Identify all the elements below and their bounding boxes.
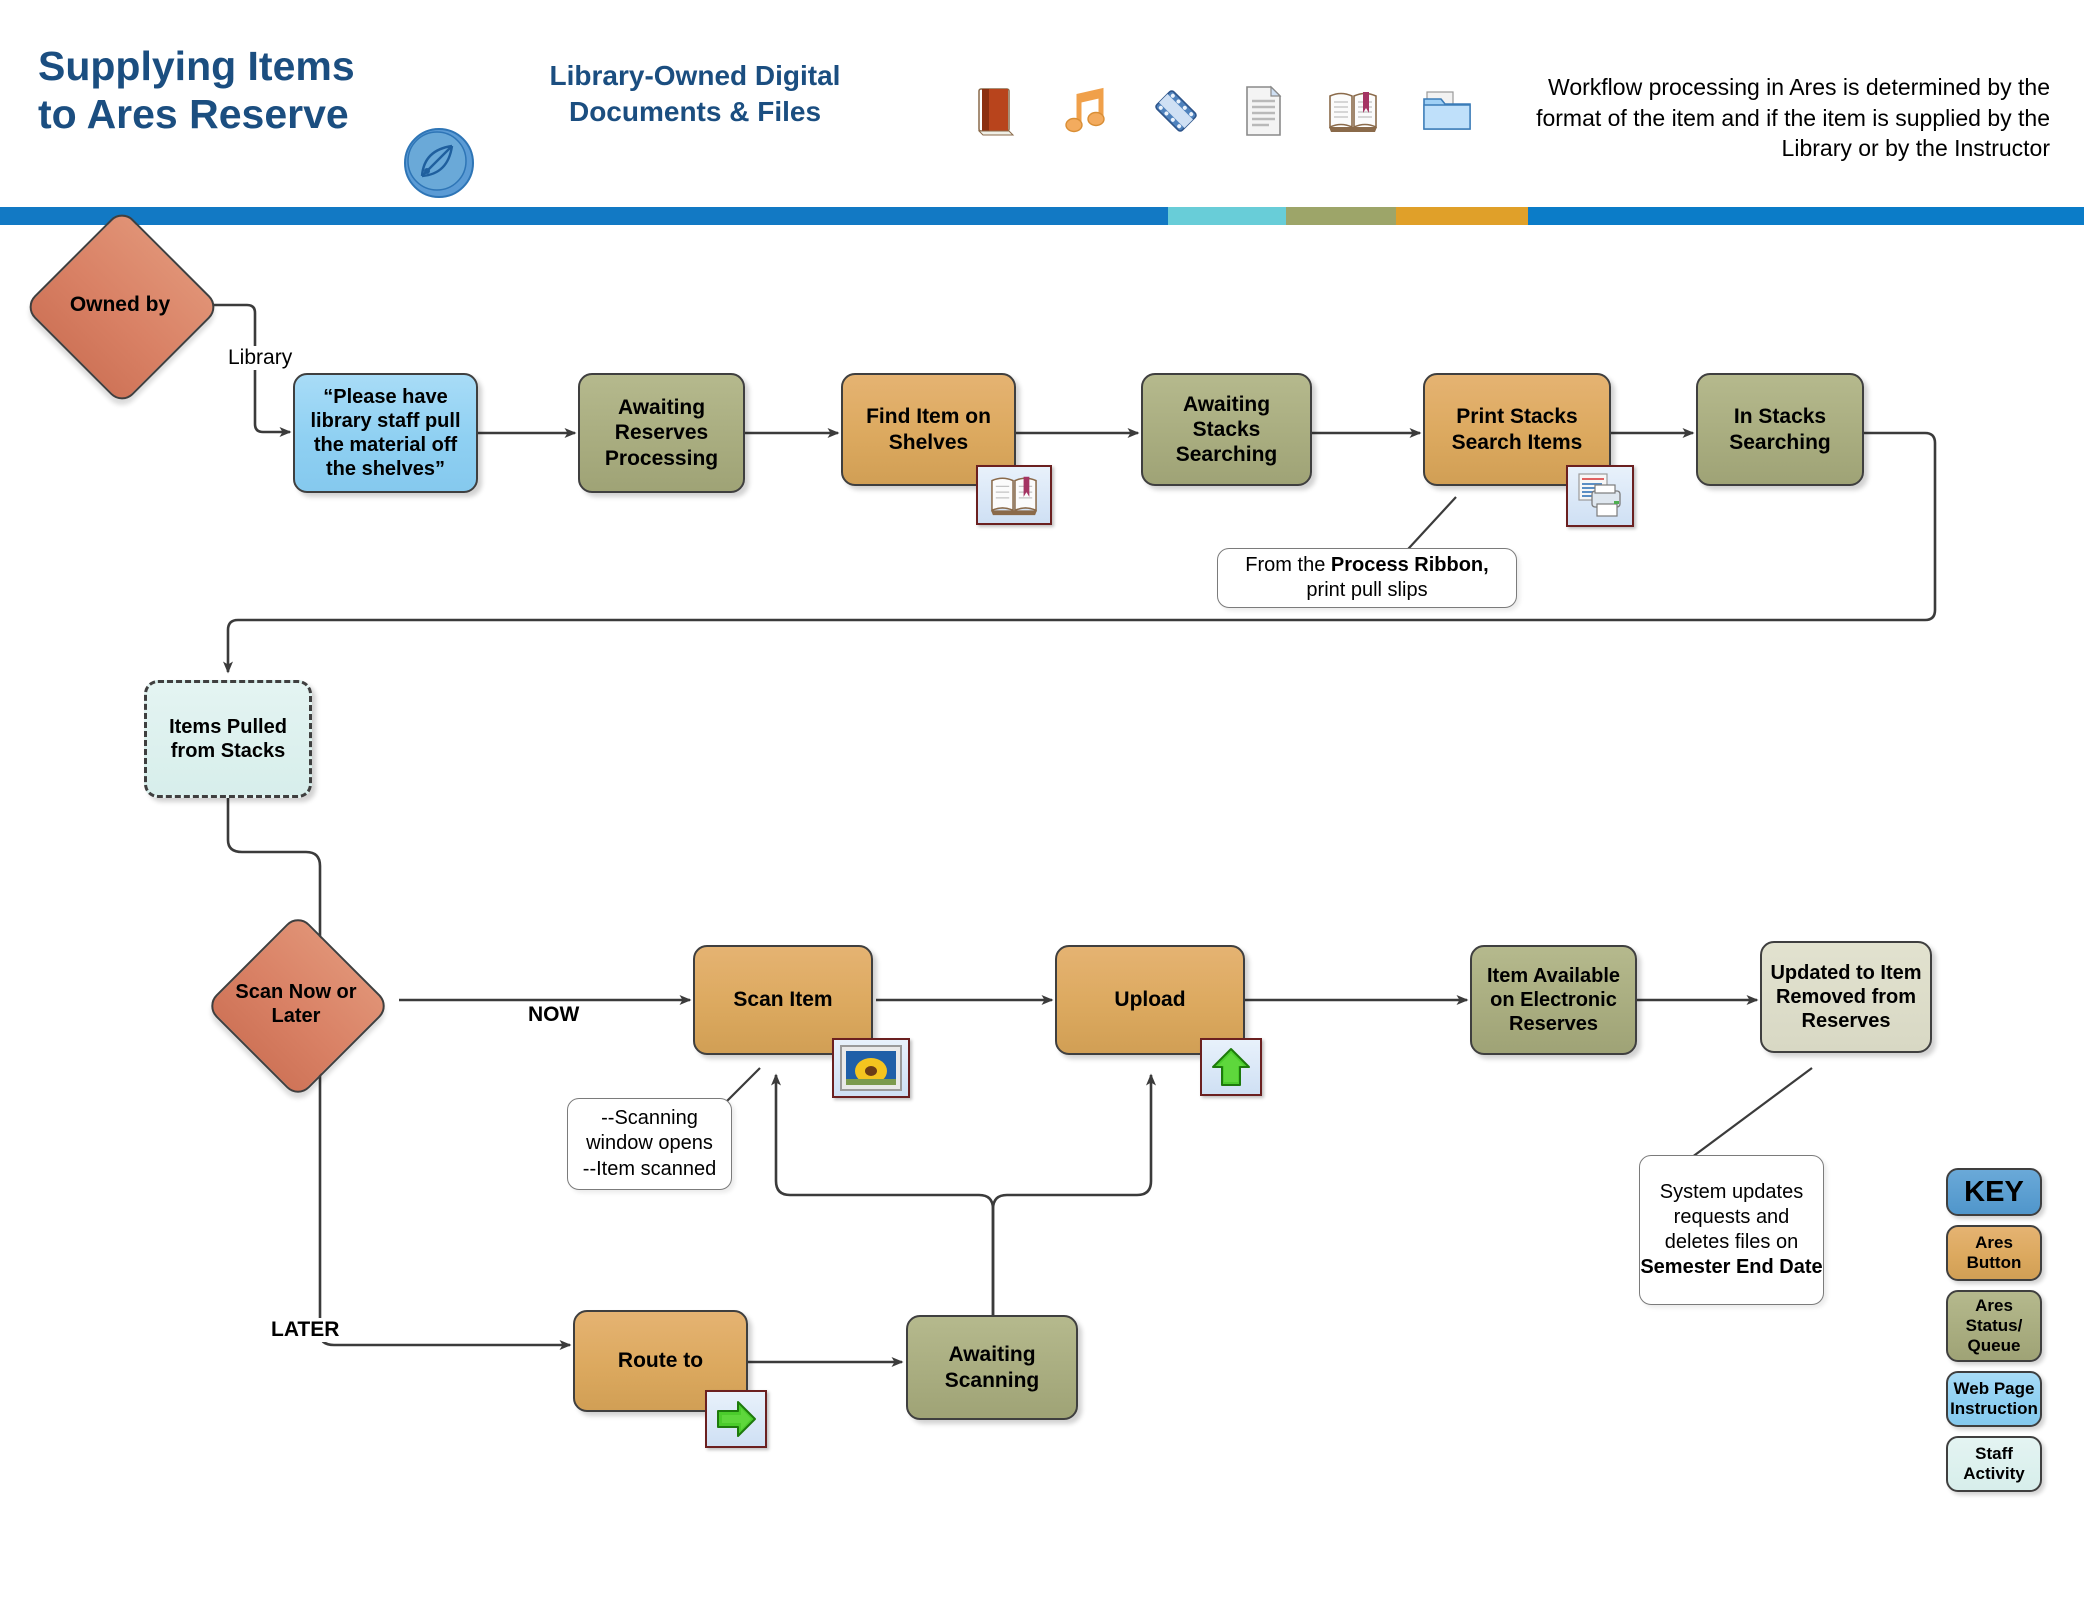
key-web-page[interactable]: Web Page Instruction [1946, 1371, 2042, 1427]
page-title-line1: Supplying Items [38, 42, 408, 90]
open-book-icon [1327, 87, 1379, 140]
badge-picture [832, 1038, 910, 1098]
node-please-have-library-staff[interactable]: “Please have library staff pull the mate… [293, 373, 478, 493]
node-in-stacks-searching[interactable]: In Stacks Searching [1696, 373, 1864, 486]
key-staff-activity[interactable]: Staff Activity [1946, 1436, 2042, 1492]
key-ares-status[interactable]: Ares Status/ Queue [1946, 1290, 2042, 1362]
node-scan-now-or-later[interactable]: Scan Now or Later [232, 940, 360, 1068]
callout-print-pull-slips: From the Process Ribbon, print pull slip… [1217, 548, 1517, 608]
key-title: KEY [1946, 1168, 2042, 1216]
badge-open-book [976, 465, 1052, 525]
callout-scanning-window: --Scanning window opens --Item scanned [567, 1098, 732, 1190]
music-note-icon [1061, 86, 1109, 141]
ares-logo [404, 128, 474, 198]
page-title-line2: to Ares Reserve [38, 90, 408, 138]
key-ares-button[interactable]: Ares Button [1946, 1225, 2042, 1281]
closed-book-icon [975, 86, 1019, 141]
node-item-available-electronic-reserves[interactable]: Item Available on Electronic Reserves [1470, 945, 1637, 1055]
node-items-pulled-from-stacks[interactable]: Items Pulled from Stacks [144, 680, 312, 798]
edge-label-later: LATER [268, 1318, 342, 1342]
document-icon [1243, 85, 1285, 142]
ares-logo-glyph [406, 130, 468, 192]
picture-icon [838, 1043, 904, 1093]
format-icon-row [975, 78, 1475, 148]
badge-green-right-arrow [705, 1390, 767, 1448]
callout-semester-pre: System updates requests and deletes file… [1660, 1181, 1803, 1253]
rule-segment-2 [1286, 207, 1396, 225]
node-updated-item-removed-reserves[interactable]: Updated to Item Removed from Reserves [1760, 941, 1932, 1053]
rule-segment-4 [1528, 207, 2084, 225]
node-scan-now-or-later-label: Scan Now or Later [232, 940, 360, 1068]
badge-green-up-arrow [1200, 1038, 1262, 1096]
callout-scan-line1: --Scanning [601, 1107, 698, 1129]
page-subtitle: Library-Owned Digital Documents & Files [545, 58, 845, 130]
green-up-arrow-icon [1209, 1045, 1253, 1089]
callout-scan-line3: --Item scanned [583, 1158, 716, 1180]
page-title: Supplying Items to Ares Reserve [38, 42, 408, 139]
header-color-rule [0, 207, 2084, 225]
node-awaiting-reserves-processing[interactable]: Awaiting Reserves Processing [578, 373, 745, 493]
badge-printer [1566, 465, 1634, 527]
page-header: Supplying Items to Ares Reserve Library-… [0, 0, 2084, 205]
green-right-arrow-icon [714, 1397, 758, 1441]
rule-segment-1 [1168, 207, 1286, 225]
edge-label-library: Library [225, 346, 295, 370]
open-book-icon [986, 472, 1042, 518]
folder-icon [1421, 87, 1473, 140]
printer-icon [1574, 471, 1626, 521]
film-reel-icon [1151, 86, 1201, 141]
key-legend: KEY Ares Button Ares Status/ Queue Web P… [1946, 1168, 2042, 1501]
node-awaiting-stacks-searching[interactable]: Awaiting Stacks Searching [1141, 373, 1312, 486]
callout-semester-bold: Semester End Date [1640, 1256, 1822, 1278]
rule-segment-3 [1396, 207, 1528, 225]
callout-pre: From the [1245, 554, 1331, 576]
callout-semester-end-date: System updates requests and deletes file… [1639, 1155, 1824, 1305]
rule-segment-0 [0, 207, 1168, 225]
callout-bold: Process Ribbon, [1331, 554, 1489, 576]
callout-post: print pull slips [1306, 579, 1427, 601]
header-note: Workflow processing in Ares is determine… [1520, 72, 2050, 164]
node-owned-by[interactable]: Owned by [52, 237, 188, 373]
callout-scan-line2: window opens [586, 1132, 713, 1154]
node-owned-by-label: Owned by [52, 237, 188, 373]
node-awaiting-scanning[interactable]: Awaiting Scanning [906, 1315, 1078, 1420]
edge-label-now: NOW [525, 1003, 582, 1027]
